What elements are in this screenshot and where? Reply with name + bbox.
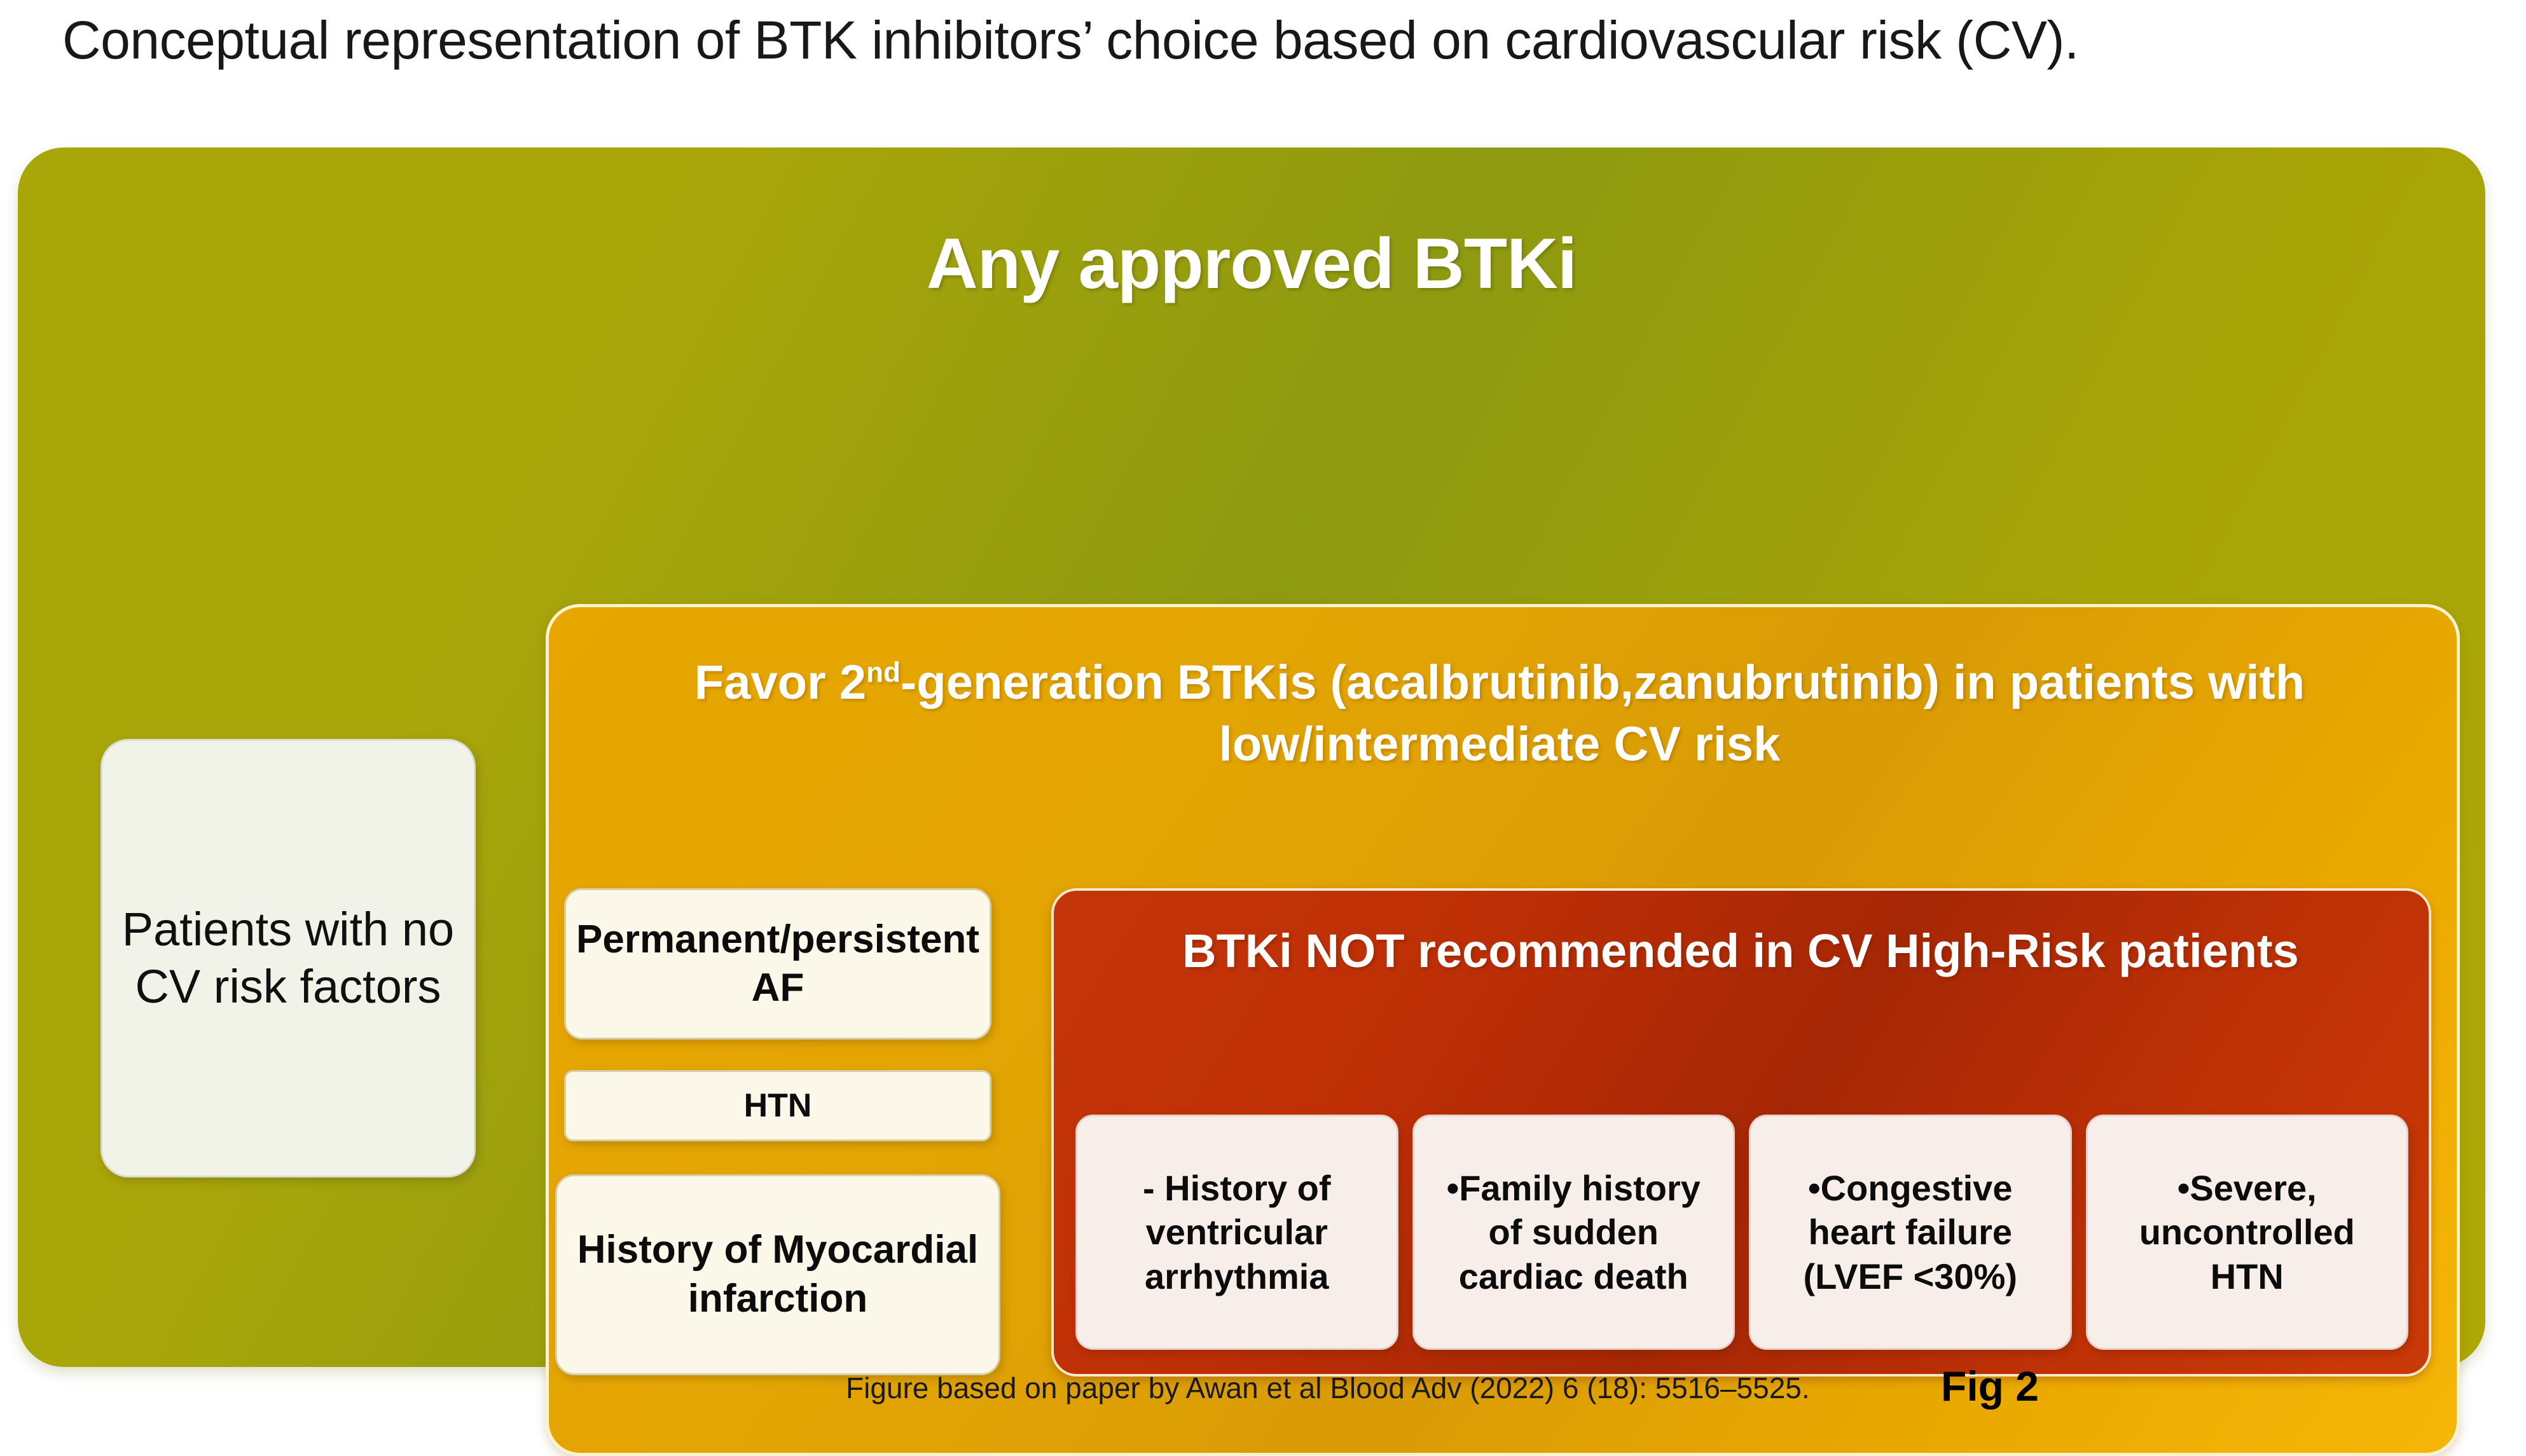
page-title: Conceptual representation of BTK inhibit…: [62, 5, 2479, 75]
high-risk-chip-congestive-heart-failure: •Congestive heart failure (LVEF <30%): [1749, 1115, 2072, 1350]
high-risk-chip-family-history-sudden-cardiac-death: •Family history of sudden cardiac death: [1412, 1115, 1736, 1350]
high-risk-criteria-row: - History of ventricular arrhythmia •Fam…: [1075, 1115, 2408, 1350]
any-approved-btki-container: Any approved BTKi Patients with no CV ri…: [18, 148, 2485, 1367]
risk-factor-column: Permanent/persistent AF HTN History of M…: [564, 888, 1003, 1375]
favor-second-generation-container: Favor 2nd-generation BTKis (acalbrutinib…: [546, 604, 2460, 1456]
no-cv-risk-factors-label: Patients with no CV risk factors: [102, 901, 474, 1016]
any-approved-btki-heading: Any approved BTKi: [18, 223, 2485, 305]
favor-heading-part1: Favor 2: [694, 656, 866, 710]
figure-number-label: Fig 2: [1941, 1362, 2039, 1410]
risk-factor-chip-htn: HTN: [564, 1070, 991, 1141]
high-risk-chip-ventricular-arrhythmia: - History of ventricular arrhythmia: [1075, 1115, 1398, 1350]
source-credit: Figure based on paper by Awan et al Bloo…: [846, 1371, 1810, 1405]
no-cv-risk-factors-card: Patients with no CV risk factors: [100, 739, 476, 1178]
risk-factor-chip-myocardial-infarction: History of Myocardial infarction: [555, 1174, 1000, 1375]
favor-second-generation-heading: Favor 2nd-generation BTKis (acalbrutinib…: [587, 652, 2412, 776]
btki-not-recommended-container: BTKi NOT recommended in CV High-Risk pat…: [1051, 888, 2431, 1377]
ordinal-suffix-superscript: nd: [866, 657, 901, 689]
btki-not-recommended-heading: BTKi NOT recommended in CV High-Risk pat…: [1079, 921, 2402, 982]
risk-factor-chip-af: Permanent/persistent AF: [564, 888, 991, 1040]
high-risk-chip-severe-uncontrolled-htn: •Severe, uncontrolled HTN: [2086, 1115, 2409, 1350]
favor-heading-part2: -generation BTKis (acalbrutinib,zanubrut…: [901, 656, 2305, 771]
